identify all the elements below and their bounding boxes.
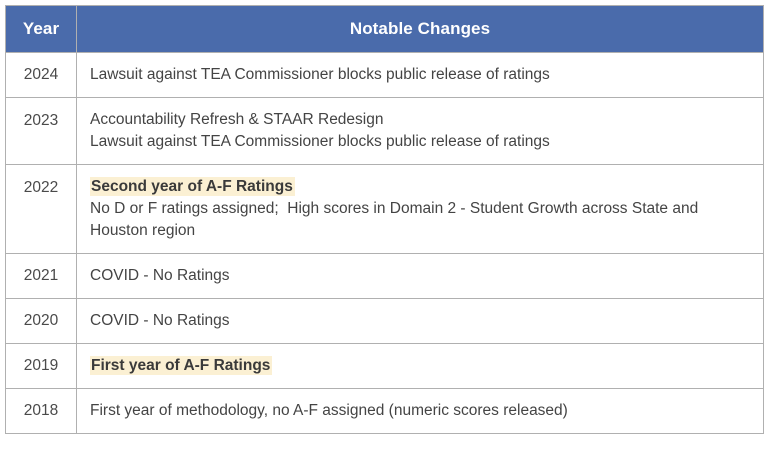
notable-changes-table: Year Notable Changes 2024Lawsuit against… [5,5,764,434]
table-row: 2018First year of methodology, no A-F as… [6,389,764,434]
cell-notable-changes: COVID - No Ratings [77,254,764,299]
cell-notable-changes: First year of methodology, no A-F assign… [77,389,764,434]
cell-notable-changes: Accountability Refresh & STAAR RedesignL… [77,98,764,165]
text-line: First year of methodology, no A-F assign… [90,400,753,422]
cell-year: 2020 [6,299,77,344]
table-row: 2019First year of A-F Ratings [6,344,764,389]
cell-year: 2021 [6,254,77,299]
column-header-year: Year [6,6,77,53]
cell-year: 2018 [6,389,77,434]
column-header-notable-changes: Notable Changes [77,6,764,53]
table-row: 2022Second year of A-F RatingsNo D or F … [6,165,764,254]
table-row: 2021COVID - No Ratings [6,254,764,299]
text-line: Lawsuit against TEA Commissioner blocks … [90,131,753,153]
highlighted-text-line: Second year of A-F Ratings [90,176,753,198]
highlight-mark: Second year of A-F Ratings [90,177,295,196]
text-line: Accountability Refresh & STAAR Redesign [90,109,753,131]
text-line: COVID - No Ratings [90,310,753,332]
cell-notable-changes: Second year of A-F RatingsNo D or F rati… [77,165,764,254]
cell-year: 2023 [6,98,77,165]
highlight-mark: First year of A-F Ratings [90,356,272,375]
text-line: COVID - No Ratings [90,265,753,287]
cell-year: 2024 [6,53,77,98]
table-row: 2023Accountability Refresh & STAAR Redes… [6,98,764,165]
notable-changes-table-container: Year Notable Changes 2024Lawsuit against… [5,5,763,434]
table-row: 2024Lawsuit against TEA Commissioner blo… [6,53,764,98]
cell-notable-changes: First year of A-F Ratings [77,344,764,389]
text-line: Lawsuit against TEA Commissioner blocks … [90,64,753,86]
highlighted-text-line: First year of A-F Ratings [90,355,753,377]
cell-notable-changes: Lawsuit against TEA Commissioner blocks … [77,53,764,98]
table-header-row: Year Notable Changes [6,6,764,53]
table-header: Year Notable Changes [6,6,764,53]
cell-year: 2019 [6,344,77,389]
table-row: 2020COVID - No Ratings [6,299,764,344]
cell-notable-changes: COVID - No Ratings [77,299,764,344]
table-body: 2024Lawsuit against TEA Commissioner blo… [6,53,764,434]
cell-year: 2022 [6,165,77,254]
text-line: No D or F ratings assigned; High scores … [90,198,753,242]
